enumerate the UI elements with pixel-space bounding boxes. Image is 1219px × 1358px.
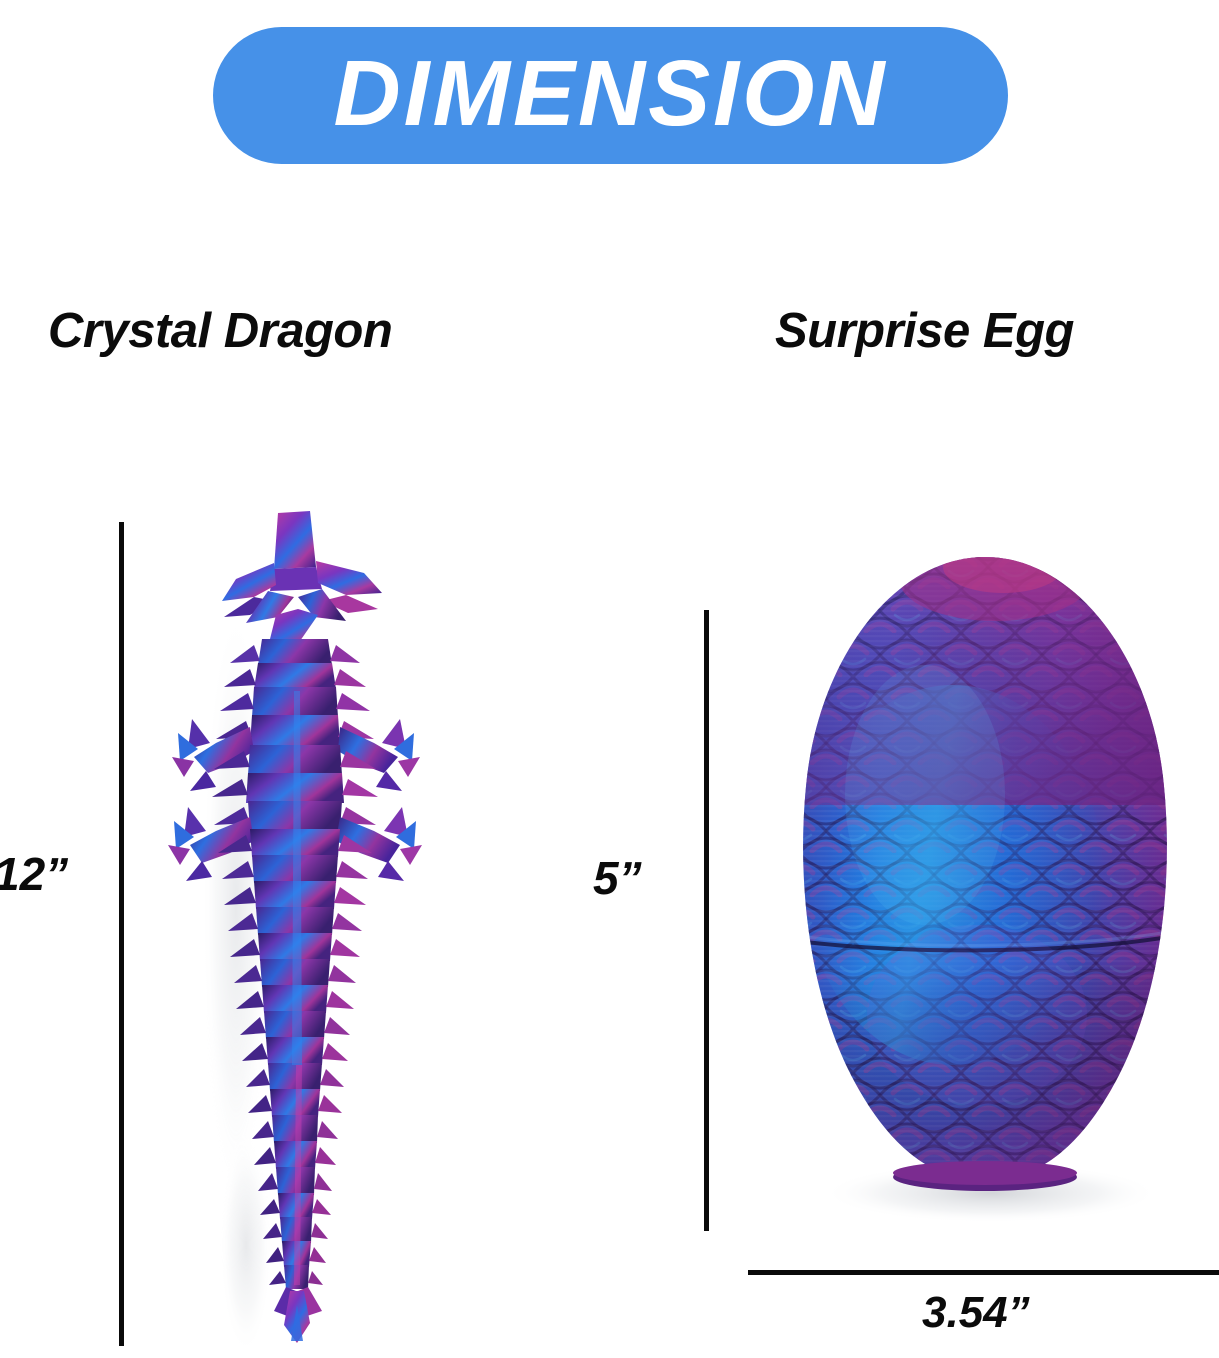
dragon-height-rule — [119, 522, 124, 1346]
egg-width-label: 3.54” — [922, 1288, 1030, 1338]
egg-illustration — [745, 545, 1219, 1245]
egg-base-rim — [893, 1161, 1077, 1191]
egg-width-rule — [748, 1270, 1219, 1275]
egg-shell — [745, 537, 1219, 1245]
banner-title: DIMENSION — [333, 47, 887, 140]
dragon-tail-fin — [274, 1287, 322, 1343]
egg-height-rule — [704, 610, 709, 1231]
surprise-egg-image — [745, 545, 1219, 1245]
dragon-illustration — [150, 505, 440, 1350]
heading-surprise-egg: Surprise Egg — [775, 303, 1074, 359]
heading-crystal-dragon: Crystal Dragon — [48, 303, 392, 359]
dragon-height-label: 12” — [0, 847, 68, 901]
egg-height-label: 5” — [593, 851, 642, 905]
dimension-banner: DIMENSION — [213, 27, 1008, 164]
infographic-stage: DIMENSION Crystal Dragon Surprise Egg 12… — [0, 0, 1219, 1358]
crystal-dragon-image — [150, 505, 440, 1350]
